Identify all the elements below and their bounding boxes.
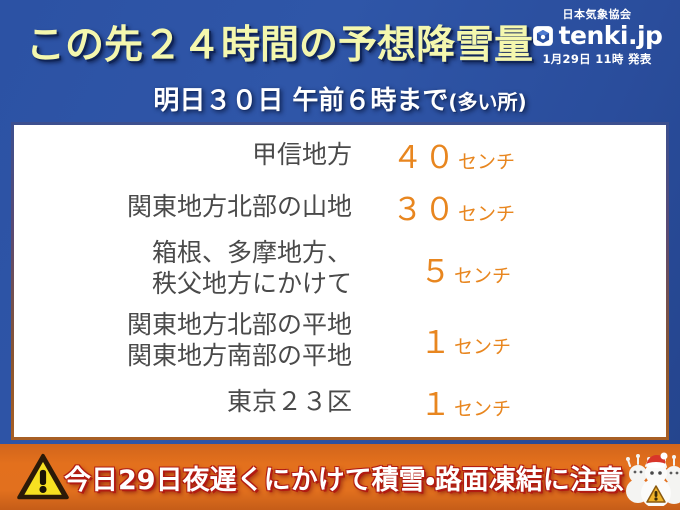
forecast-panel: 甲信地方４０センチ関東地方北部の山地３０センチ箱根、多摩地方、秩父地方にかけて５… <box>14 125 666 437</box>
warning-banner: 今日29日夜遅くにかけて積雪・路面凍結に注意 <box>0 444 680 510</box>
issued-timestamp: 1月29日 11時 発表 <box>526 51 668 67</box>
forecast-row: 関東地方北部の平地関東地方南部の平地１センチ <box>14 304 666 375</box>
region-label-line: 関東地方北部の山地 <box>14 191 352 222</box>
region-label-line: 甲信地方 <box>14 139 352 170</box>
snowmen-icon <box>624 448 680 506</box>
region-label: 関東地方北部の山地 <box>14 191 352 222</box>
tenki-cube-icon <box>532 25 554 47</box>
snowfall-value: ３０センチ <box>352 184 666 229</box>
region-label-line: 関東地方南部の平地 <box>14 340 352 371</box>
brand-block: 日本気象協会 tenki.jp 1月29日 11時 発表 <box>526 8 668 67</box>
region-label: 東京２３区 <box>14 386 352 417</box>
region-label-line: 東京２３区 <box>14 386 352 417</box>
snowfall-unit: センチ <box>458 151 515 173</box>
snowfall-amount: １ <box>420 325 452 361</box>
region-label: 甲信地方 <box>14 139 352 170</box>
snowfall-unit: センチ <box>454 265 511 287</box>
header: この先２４時間の予想降雪量 日本気象協会 tenki.jp 1月29日 11時 … <box>0 0 680 124</box>
brand-logo-row: tenki.jp <box>526 23 668 48</box>
snowfall-unit: センチ <box>458 203 515 225</box>
brand-site-name[interactable]: tenki.jp <box>559 23 663 48</box>
forecast-row: 東京２３区１センチ <box>14 375 666 427</box>
snowfall-amount: ３０ <box>392 192 456 228</box>
forecast-row: 箱根、多摩地方、秩父地方にかけて５センチ <box>14 233 666 304</box>
snowfall-unit: センチ <box>454 398 511 420</box>
forecast-row: 関東地方北部の山地３０センチ <box>14 181 666 233</box>
forecast-row: 甲信地方４０センチ <box>14 129 666 181</box>
page-title: この先２４時間の予想降雪量 <box>26 14 533 70</box>
region-label: 関東地方北部の平地関東地方南部の平地 <box>14 309 352 371</box>
snowfall-unit: センチ <box>454 336 511 358</box>
region-label: 箱根、多摩地方、秩父地方にかけて <box>14 237 352 299</box>
snowfall-value: １センチ <box>352 317 666 362</box>
snowfall-value: ４０センチ <box>352 132 666 177</box>
subtitle-note: (多い所) <box>448 90 526 114</box>
region-label-line: 箱根、多摩地方、 <box>14 237 352 268</box>
warning-message: 今日29日夜遅くにかけて積雪・路面凍結に注意 <box>64 458 624 497</box>
subtitle-main: 明日３０日 午前６時まで <box>153 86 448 116</box>
region-label-line: 関東地方北部の平地 <box>14 309 352 340</box>
snowfall-amount: １ <box>420 387 452 423</box>
association-name: 日本気象協会 <box>526 8 668 22</box>
subtitle: 明日３０日 午前６時まで(多い所) <box>0 80 680 117</box>
snowfall-amount: ５ <box>420 254 452 290</box>
snowfall-value: １センチ <box>352 379 666 424</box>
snowfall-value: ５センチ <box>352 246 666 291</box>
snowfall-amount: ４０ <box>392 140 456 176</box>
region-label-line: 秩父地方にかけて <box>14 268 352 299</box>
forecast-panel-frame: 甲信地方４０センチ関東地方北部の山地３０センチ箱根、多摩地方、秩父地方にかけて５… <box>11 122 669 440</box>
weather-infographic: この先２４時間の予想降雪量 日本気象協会 tenki.jp 1月29日 11時 … <box>0 0 680 510</box>
forecast-row-list: 甲信地方４０センチ関東地方北部の山地３０センチ箱根、多摩地方、秩父地方にかけて５… <box>14 125 666 437</box>
warning-triangle-icon <box>16 453 70 501</box>
